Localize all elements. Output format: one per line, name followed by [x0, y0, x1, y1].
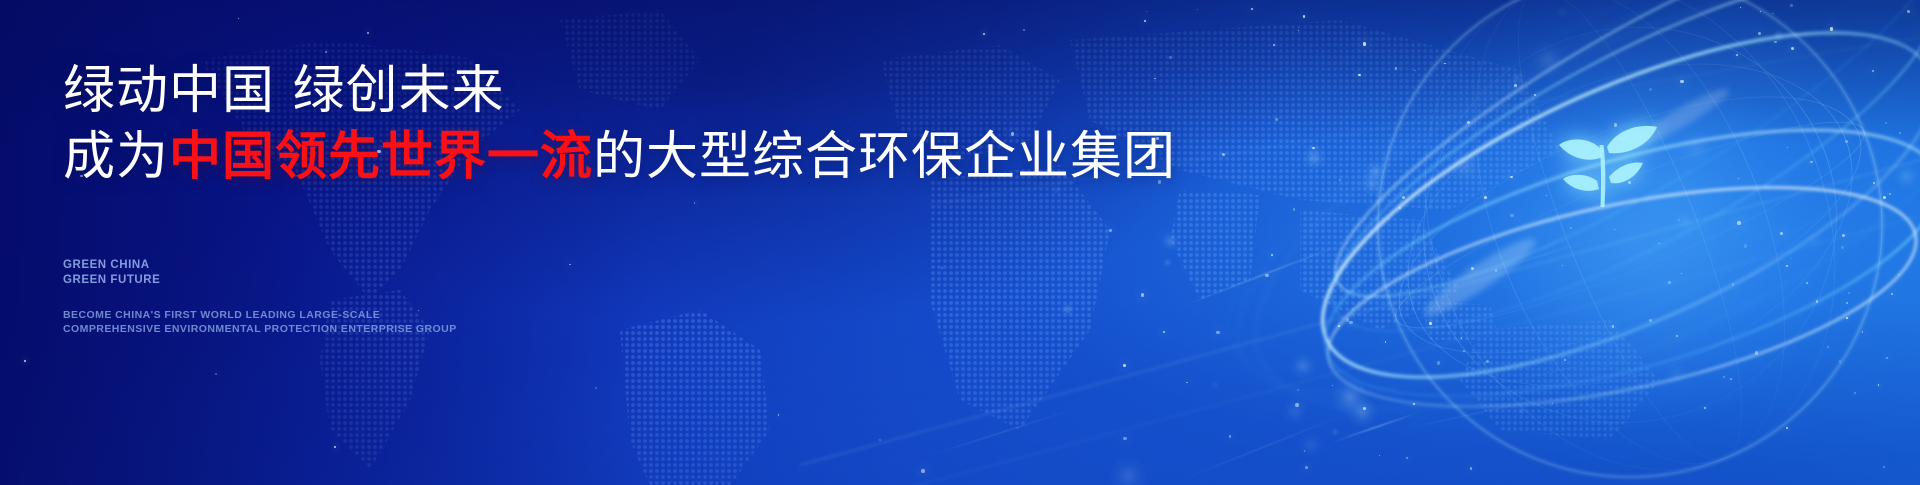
headline-accent: 中国领先世界一流: [169, 127, 593, 187]
headline-prefix: 成为: [63, 127, 169, 187]
tagline-line-2: GREEN FUTURE: [63, 273, 160, 288]
hero-banner: 绿动中国 绿创未来 成为中国领先世界一流的大型综合环保企业集团 GREEN CH…: [0, 0, 1920, 485]
headline-line-1: 绿动中国 绿创未来: [63, 60, 1176, 122]
subtitle-block: BECOME CHINA'S FIRST WORLD LEADING LARGE…: [63, 309, 457, 336]
headline-suffix: 的大型综合环保企业集团: [593, 127, 1176, 187]
tagline-line-1: GREEN CHINA: [63, 258, 160, 273]
subtitle-line-2: COMPREHENSIVE ENVIRONMENTAL PROTECTION E…: [63, 323, 457, 337]
tagline-block: GREEN CHINA GREEN FUTURE: [63, 258, 160, 287]
subtitle-line-1: BECOME CHINA'S FIRST WORLD LEADING LARGE…: [63, 309, 457, 323]
headline-line-2: 成为中国领先世界一流的大型综合环保企业集团: [63, 126, 1176, 188]
headline-block: 绿动中国 绿创未来 成为中国领先世界一流的大型综合环保企业集团: [63, 60, 1176, 188]
